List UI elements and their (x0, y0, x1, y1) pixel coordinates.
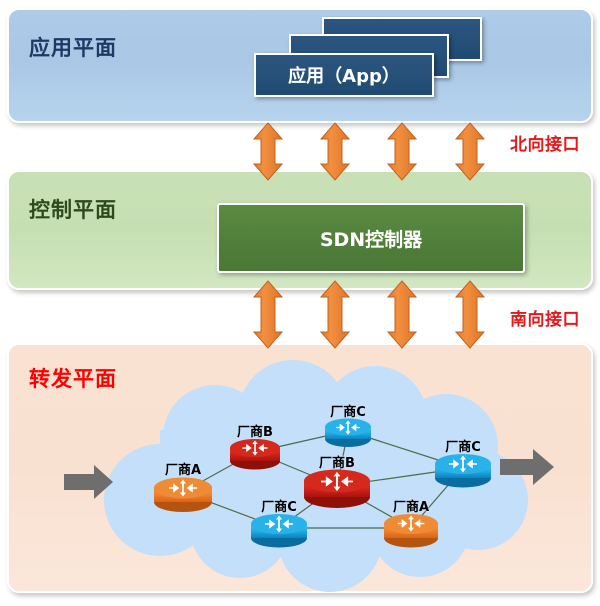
application-plane-title: 应用平面 (29, 32, 117, 62)
southbound-arrow (388, 281, 416, 348)
sdn-controller-box[interactable]: SDN控制器 (217, 203, 525, 273)
router-7-label: 厂商C (445, 436, 481, 455)
southbound-arrow-group (254, 281, 484, 348)
router-5-label: 厂商C (261, 496, 297, 515)
control-plane-title: 控制平面 (29, 194, 117, 224)
app-box-front[interactable]: 应用（App） (254, 53, 434, 97)
router-6-label: 厂商A (393, 496, 429, 515)
southbound-arrow (254, 281, 282, 348)
forwarding-plane-title: 转发平面 (29, 363, 117, 393)
router-1-label: 厂商A (165, 459, 201, 478)
southbound-arrow (321, 281, 349, 348)
southbound-arrow (456, 281, 484, 348)
router-2-label: 厂商B (237, 421, 273, 440)
sdn-controller-label: SDN控制器 (320, 225, 422, 252)
northbound-interface-label: 北向接口 (510, 130, 580, 155)
diagram-canvas: 应用平面 应用（App） 控制平面 SDN控制器 转发平面 北向接口 南向接口 (0, 0, 600, 606)
forwarding-plane-panel: 转发平面 (7, 343, 593, 593)
app-box-front-label: 应用（App） (288, 62, 400, 88)
router-4-label: 厂商B (319, 452, 355, 471)
router-3-label: 厂商C (330, 401, 366, 420)
southbound-interface-label: 南向接口 (510, 305, 580, 330)
